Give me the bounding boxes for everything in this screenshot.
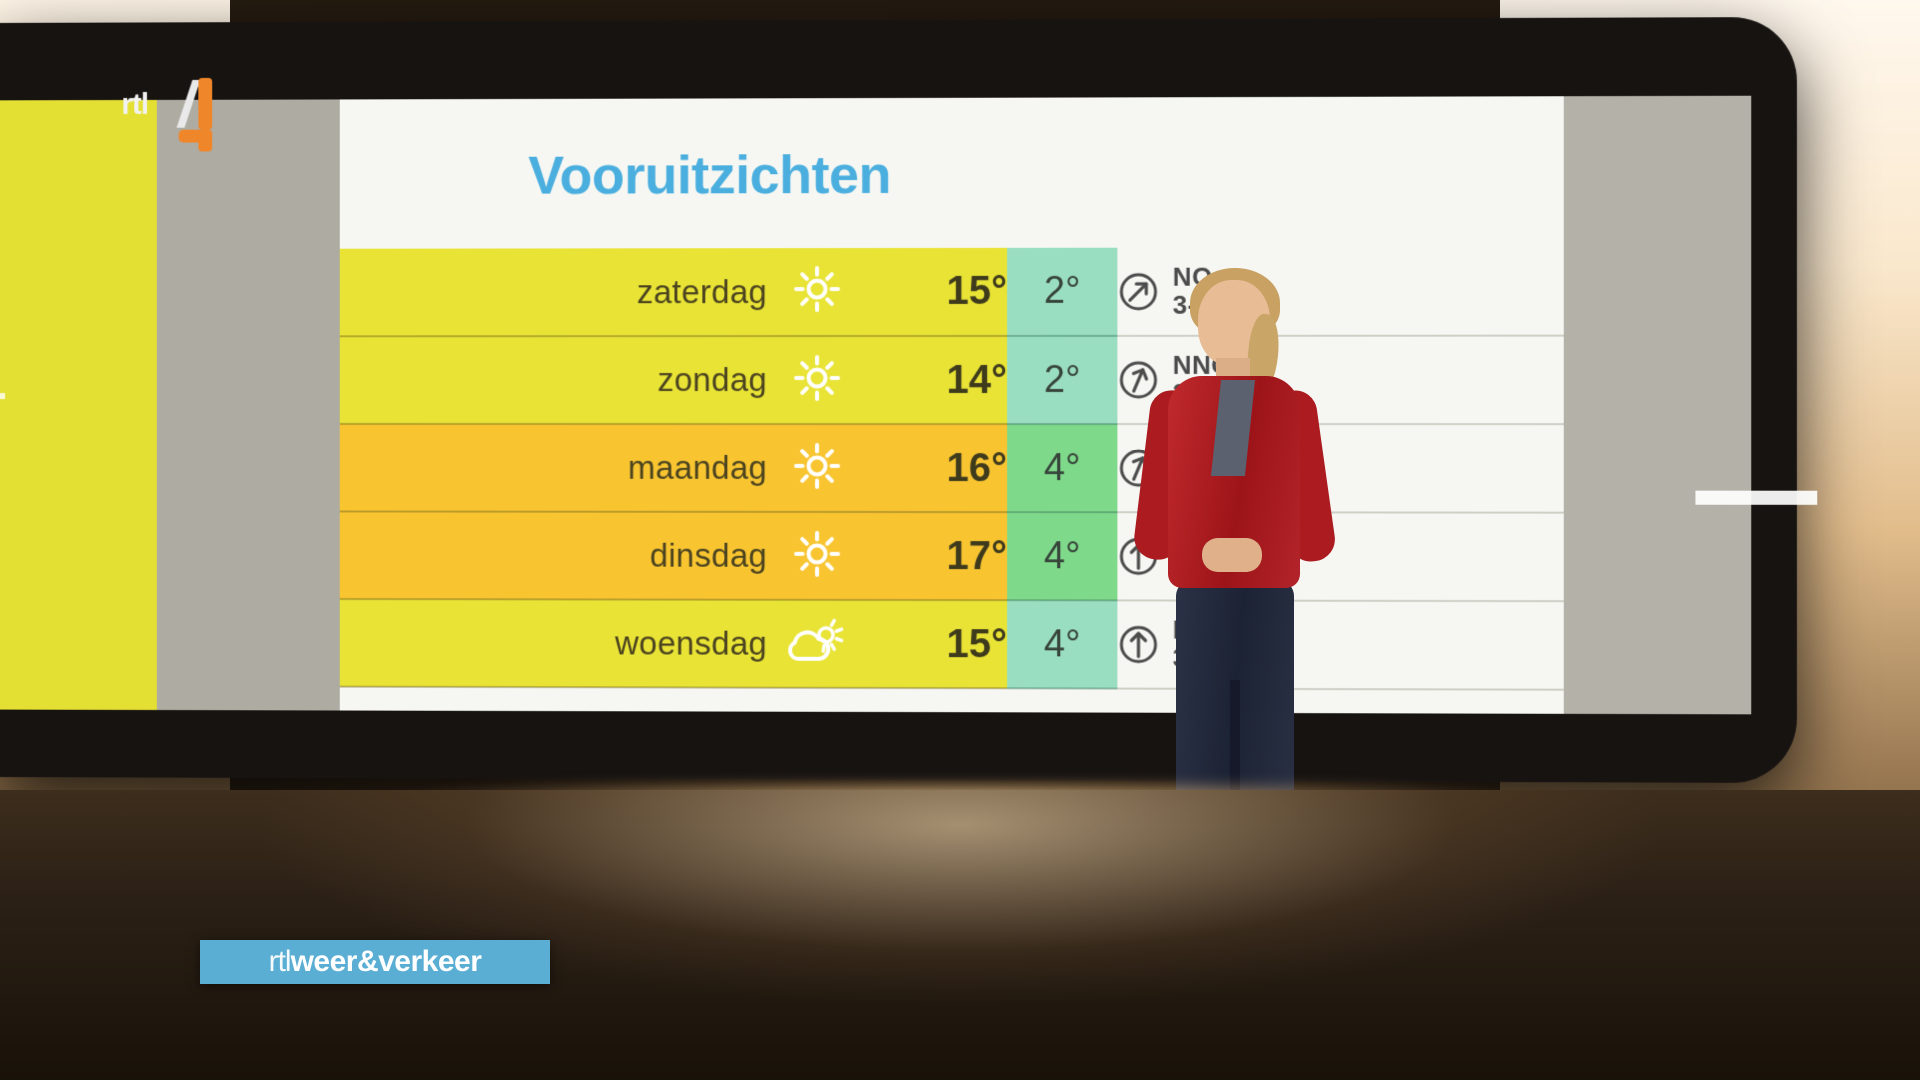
forecast-day: woensdag <box>340 599 767 688</box>
forecast-min-temp: 4° <box>1007 512 1117 600</box>
table-row: woensdag15°4°NNW3-5 Bft <box>340 599 1564 690</box>
program-bug: rtlweer&verkeer <box>200 940 550 984</box>
forecast-day: zondag <box>340 336 767 424</box>
page-title: Vooruitzichten <box>528 144 891 207</box>
sun-icon <box>791 352 843 404</box>
forecast-sky-cell <box>767 600 867 688</box>
forecast-min-temp: 4° <box>1007 600 1117 688</box>
program-bug-title: weer&verkeer <box>291 945 482 978</box>
video-wall-screen: Vooruitzichten zaterdag15°2°NO3-5 Bftzon… <box>0 96 1751 715</box>
forecast-max-temp: 16° <box>867 424 1007 512</box>
sun-cloud-icon <box>786 616 848 666</box>
presenter-hands <box>1202 538 1262 572</box>
screen-gray-strip-right <box>1564 96 1751 715</box>
studio-floor <box>0 790 1920 1080</box>
screen-yellow-strip <box>0 100 157 710</box>
forecast-max-temp: 15° <box>867 248 1007 336</box>
forecast-day: maandag <box>340 424 767 512</box>
forecast-sky-cell <box>767 248 867 336</box>
rtl-wordmark: rtl <box>121 88 148 122</box>
sun-icon <box>791 439 843 491</box>
studio-background: Vooruitzichten zaterdag15°2°NO3-5 Bftzon… <box>0 0 1920 1080</box>
forecast-max-temp: 15° <box>867 600 1007 688</box>
program-bug-label: rtlweer&verkeer <box>269 945 482 979</box>
forecast-card: Vooruitzichten zaterdag15°2°NO3-5 Bftzon… <box>340 96 1564 714</box>
forecast-table: zaterdag15°2°NO3-5 Bftzondag14°2°NNO2-5 … <box>340 247 1564 691</box>
forecast-day: zaterdag <box>340 248 767 336</box>
forecast-day: dinsdag <box>340 511 767 599</box>
forecast-max-temp: 17° <box>867 512 1007 600</box>
forecast-min-temp: 2° <box>1007 248 1117 336</box>
forecast-min-temp: 4° <box>1007 424 1117 512</box>
table-row: zaterdag15°2°NO3-5 Bft <box>340 247 1564 336</box>
forecast-sky-cell <box>767 512 867 600</box>
program-bug-prefix: rtl <box>269 945 291 978</box>
table-row: maandag16°4°NNO2-5 Bft <box>340 424 1564 513</box>
sun-icon <box>791 263 843 315</box>
table-row: zondag14°2°NNO2-5 Bft <box>340 336 1564 425</box>
table-row: dinsdag17°4°NNW2-4 Bft <box>340 511 1564 601</box>
forecast-max-temp: 14° <box>867 336 1007 424</box>
sun-icon <box>791 527 843 579</box>
forecast-sky-cell <box>767 424 867 512</box>
forecast-min-temp: 2° <box>1007 336 1117 424</box>
rtl4-logo: rtl <box>121 74 230 156</box>
forecast-sky-cell <box>767 336 867 424</box>
screen-gray-strip-left <box>157 99 340 710</box>
video-wall: Vooruitzichten zaterdag15°2°NO3-5 Bftzon… <box>0 17 1797 783</box>
